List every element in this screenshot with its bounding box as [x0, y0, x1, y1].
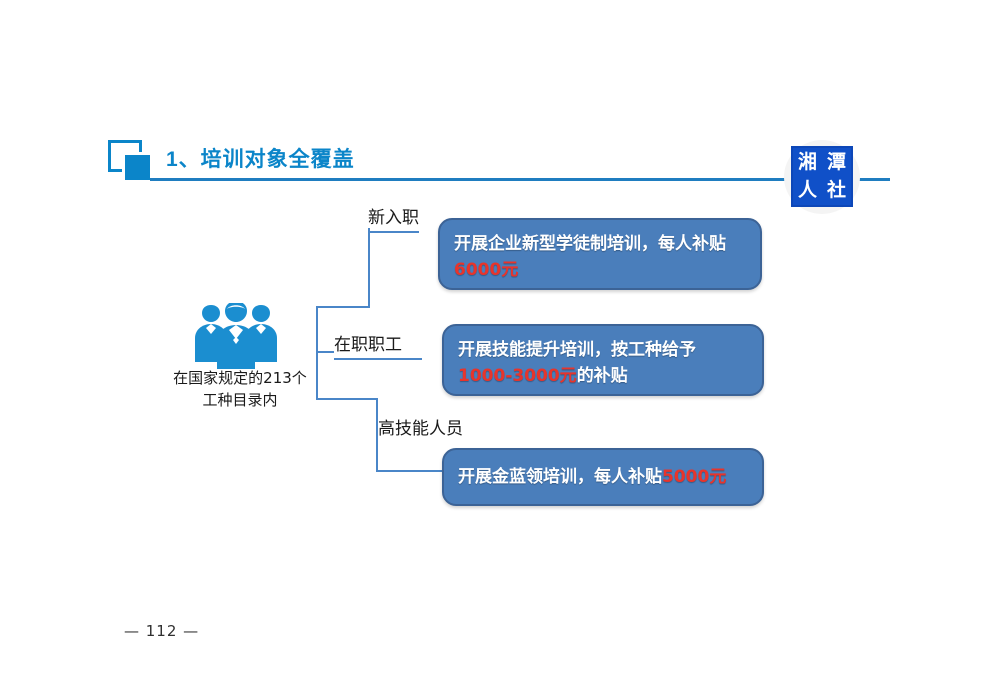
connector-branch-1-horizontal [316, 306, 370, 308]
page-title: 1、培训对象全覆盖 [166, 143, 355, 173]
connector-branch-1-vertical [368, 228, 370, 308]
branch-label-new-hire: 新入职 [368, 203, 419, 233]
source-caption-line-2: 工种目录内 [150, 390, 330, 412]
source-caption: 在国家规定的213个 工种目录内 [150, 368, 330, 412]
page-number: — 112 — [124, 622, 199, 640]
callout-high-skilled: 开展金蓝领培训，每人补贴5000元 [442, 448, 764, 506]
callout-2-text-after: 的补贴 [577, 366, 628, 386]
seal-char-1: 湘 [798, 153, 817, 172]
connector-branch-2-horizontal [316, 351, 334, 353]
connector-branch-3-horizontal-top [316, 398, 378, 400]
double-square-icon [108, 140, 156, 186]
branch-label-current-employee: 在职职工 [334, 330, 422, 360]
three-people-icon [186, 303, 286, 369]
callout-2-text-before: 开展技能提升培训，按工种给予 [458, 340, 696, 360]
callout-1-text-before: 开展企业新型学徒制培训，每人补 [454, 234, 709, 254]
callout-current-employee: 开展技能提升培训，按工种给予1000-3000元的补贴 [442, 324, 764, 396]
callout-1-amount: 6000元 [454, 260, 518, 280]
callout-3-text-before: 开展金蓝领培训，每人补贴 [458, 467, 662, 487]
connector-branch-3-horizontal-bottom [376, 470, 448, 472]
branch-label-high-skilled: 高技能人员 [378, 414, 463, 439]
header-divider [150, 178, 890, 181]
slide-canvas: 1、培训对象全覆盖 湘 潭 人 社 [0, 0, 982, 695]
callout-2-amount: 1000-3000元 [458, 366, 577, 386]
callout-1-text-wrap: 贴 [709, 234, 726, 254]
seal-char-4: 社 [827, 181, 846, 200]
seal-stamp: 湘 潭 人 社 [791, 146, 853, 207]
seal-char-3: 人 [798, 181, 817, 200]
connector-trunk-vertical [316, 307, 318, 399]
callout-3-amount: 5000元 [662, 467, 726, 487]
square-filled-shape [125, 155, 150, 180]
source-caption-line-1: 在国家规定的213个 [150, 368, 330, 390]
xiangtan-renshe-seal-logo: 湘 潭 人 社 [782, 140, 866, 214]
seal-char-2: 潭 [827, 153, 846, 172]
callout-new-hire: 开展企业新型学徒制培训，每人补贴6000元 [438, 218, 762, 290]
